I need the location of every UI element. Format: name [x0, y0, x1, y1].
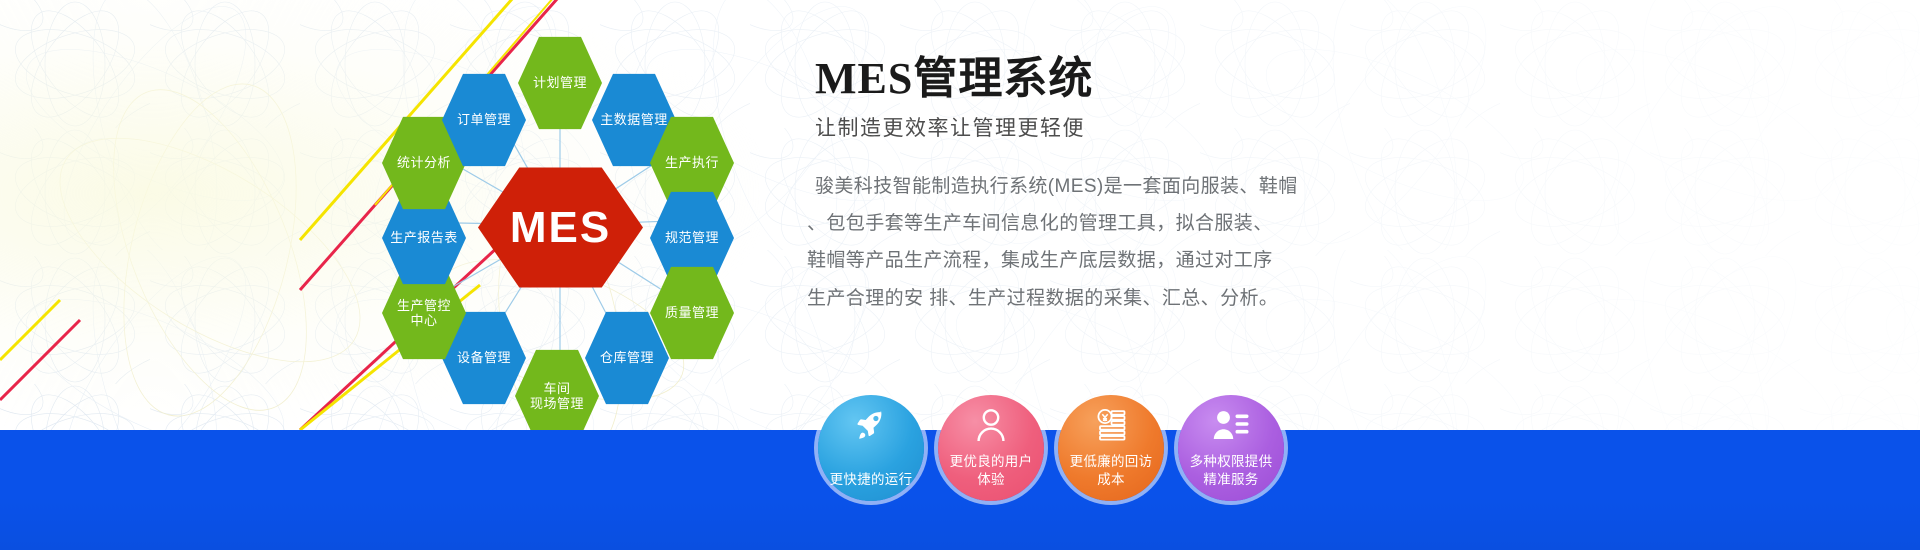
badge-better-user-experience[interactable]: 更优良的用户 体验 — [938, 395, 1044, 501]
page-title: MES管理系统 — [815, 55, 1875, 103]
permissions-icon — [1178, 408, 1284, 442]
badge-multi-permission-service[interactable]: 多种权限提供 精准服务 — [1178, 395, 1284, 501]
mes-hexagon-diagram: 计划管理 主数据管理 生产执行 规范管理 质量管理 仓库管理 车间 现场管理 设… — [320, 10, 800, 440]
hex-label: 统计分析 — [397, 155, 451, 170]
badge-label-line1: 多种权限提供 — [1190, 454, 1273, 469]
badge-faster-operation[interactable]: 更快捷的运行 — [818, 395, 924, 501]
hex-label: 仓库管理 — [600, 350, 654, 365]
paragraph-line: 生产合理的安 排、生产过程数据的采集、汇总、分析。 — [815, 280, 1275, 317]
hex-label: 订单管理 — [457, 112, 511, 127]
feature-badge-row: 更快捷的运行 更优良的用户 体验 — [818, 395, 1284, 501]
hex-label: 生产报告表 — [390, 230, 458, 245]
paragraph-line: 骏美科技智能制造执行系统(MES)是一套面向服装、鞋帽 — [815, 168, 1275, 205]
hex-label: 车间 现场管理 — [530, 381, 584, 412]
paragraph-line: 鞋帽等产品生产流程，集成生产底层数据，通过对工序 — [815, 242, 1275, 279]
badge-label-line2: 体验 — [977, 472, 1005, 487]
hex-label: 生产管控 中心 — [397, 298, 451, 329]
badge-label-line2: 精准服务 — [1203, 472, 1258, 487]
user-icon — [938, 408, 1044, 442]
badge-label-line1: 更低廉的回访 — [1070, 454, 1153, 469]
money-stack-icon — [1058, 408, 1164, 442]
hex-label: 计划管理 — [533, 75, 587, 90]
banner-copy: MES管理系统 让制造更效率让管理更轻便 骏美科技智能制造执行系统(MES)是一… — [815, 55, 1875, 317]
hex-label: 质量管理 — [665, 305, 719, 320]
page-subtitle: 让制造更效率让管理更轻便 — [815, 112, 1875, 142]
hex-label: 主数据管理 — [600, 112, 668, 127]
description-paragraph: 骏美科技智能制造执行系统(MES)是一套面向服装、鞋帽 、包包手套等生产车间信息… — [815, 168, 1275, 316]
badge-label-line1: 更优良的用户 — [950, 454, 1033, 469]
banner-stage: 计划管理 主数据管理 生产执行 规范管理 质量管理 仓库管理 车间 现场管理 设… — [0, 0, 1920, 550]
hex-core-label: MES — [510, 202, 611, 254]
hex-label: 设备管理 — [457, 350, 511, 365]
badge-lower-revisit-cost[interactable]: 更低廉的回访 成本 — [1058, 395, 1164, 501]
hex-label: 规范管理 — [665, 230, 719, 245]
badge-label-line1: 更快捷的运行 — [830, 472, 913, 487]
badge-label-line2: 成本 — [1097, 472, 1125, 487]
paragraph-line: 、包包手套等生产车间信息化的管理工具，拟合服装、 — [815, 205, 1275, 242]
hex-label: 生产执行 — [665, 155, 719, 170]
rocket-icon — [818, 408, 924, 442]
